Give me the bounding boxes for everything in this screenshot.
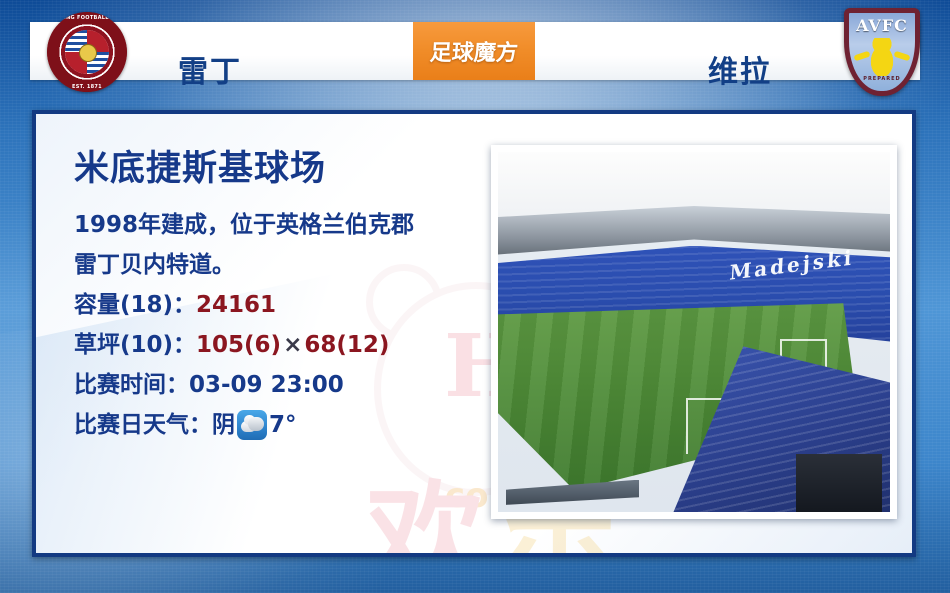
pitch-length-value: 105(6) <box>196 332 281 358</box>
brand-logo-text: 足球魔方 <box>429 35 519 67</box>
aston-villa-crest-icon: AVFC PREPARED <box>844 8 920 96</box>
screenshot-root: 雷丁 维拉 READING FOOTBALL CLUB EST. 1871 足球… <box>0 0 950 593</box>
capacity-label: 容量(18)： <box>74 292 196 318</box>
madejski-stadium-photo: Madejski Stadium <box>498 152 890 512</box>
match-time-label: 比赛时间： <box>74 372 189 398</box>
villa-initials: AVFC <box>844 16 920 35</box>
stadium-photo-frame: Madejski Stadium <box>491 145 897 519</box>
match-weather-row: 比赛日天气：阴 7° <box>74 405 494 445</box>
venue-description-line-1: 1998年建成，位于英格兰伯克郡 <box>74 205 494 245</box>
venue-pitch-row: 草坪(10)：105(6)×68(12) <box>74 325 494 365</box>
weather-condition: 阴 <box>212 405 235 445</box>
venue-info-card: H H .co 欢 乐 米底捷斯基球场 1998年建成，位于英格兰伯克郡 雷丁贝… <box>32 110 916 557</box>
pitch-separator: × <box>281 332 304 358</box>
brand-logo-box: 足球魔方 <box>413 22 535 80</box>
villa-motto: PREPARED <box>844 76 920 82</box>
weather-label: 比赛日天气： <box>74 405 212 445</box>
venue-capacity-row: 容量(18)：24161 <box>74 285 494 325</box>
villa-lion-icon <box>865 38 899 76</box>
crest-center-hub <box>79 44 97 62</box>
venue-description-line-2: 雷丁贝内特道。 <box>74 245 494 285</box>
watermark-big-char-1: 欢 <box>366 479 484 557</box>
photo-tunnel-area <box>796 454 882 512</box>
pitch-width-value: 68(12) <box>304 332 389 358</box>
crest-ring-bottom-text: EST. 1871 <box>47 84 127 90</box>
match-time-value: 03-09 23:00 <box>189 372 344 398</box>
pitch-label: 草坪(10)： <box>74 332 196 358</box>
away-team-name: 维拉 <box>708 50 772 96</box>
cloudy-icon <box>237 410 267 440</box>
venue-title: 米底捷斯基球场 <box>74 150 494 189</box>
capacity-value: 24161 <box>196 292 276 318</box>
crest-ring-top-text: READING FOOTBALL CLUB <box>47 15 127 21</box>
cloud-puff-right <box>248 417 264 431</box>
weather-temperature: 7° <box>269 405 297 445</box>
home-team-name: 雷丁 <box>178 50 242 96</box>
match-time-row: 比赛时间：03-09 23:00 <box>74 365 494 405</box>
reading-fc-crest-icon: READING FOOTBALL CLUB EST. 1871 <box>47 12 127 92</box>
crest-inner-shield <box>64 29 110 75</box>
venue-details: 米底捷斯基球场 1998年建成，位于英格兰伯克郡 雷丁贝内特道。 容量(18)：… <box>74 150 494 445</box>
